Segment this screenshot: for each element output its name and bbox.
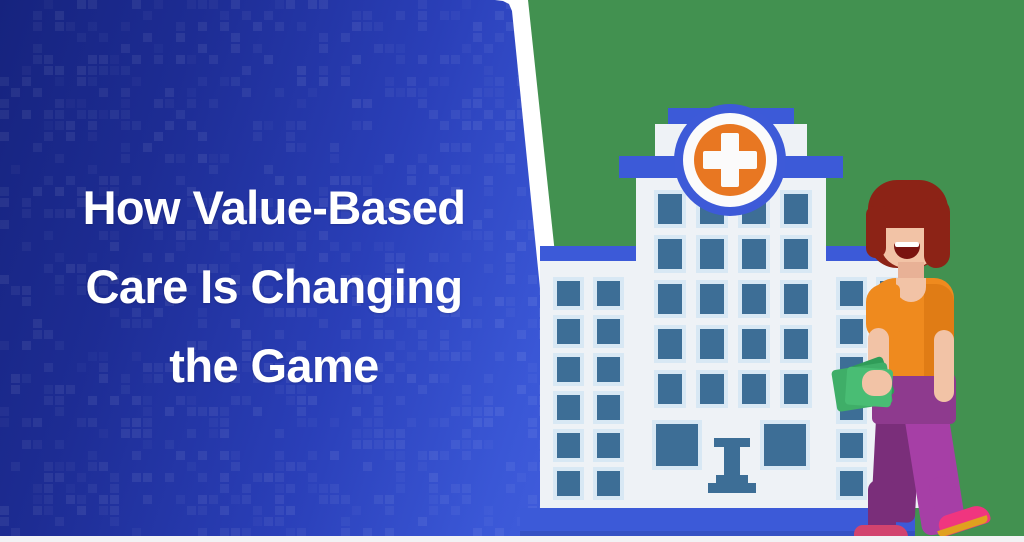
- banner-title: How Value-Based Care Is Changing the Gam…: [14, 168, 534, 405]
- building-window: [700, 239, 724, 269]
- banner-root: How Value-Based Care Is Changing the Gam…: [0, 0, 1024, 542]
- woman-walking-with-money: [838, 180, 968, 542]
- left-wing-roof-band: [540, 246, 637, 261]
- building-window: [700, 374, 724, 404]
- building-window: [557, 395, 580, 420]
- arm-right: [934, 330, 954, 402]
- building-window: [700, 284, 724, 314]
- building-window: [658, 239, 682, 269]
- cross-icon-horizontal: [703, 151, 757, 169]
- building-window: [784, 239, 808, 269]
- hair-side-right: [924, 198, 950, 268]
- building-window: [597, 281, 620, 306]
- building-window: [557, 471, 580, 496]
- title-line-3: the Game: [14, 326, 534, 405]
- building-window: [742, 239, 766, 269]
- building-window: [597, 319, 620, 344]
- left-wing-wall: [540, 261, 637, 508]
- entrance-step-lower: [708, 483, 756, 493]
- hair-side-left: [866, 206, 886, 258]
- building-window: [784, 374, 808, 404]
- building-window: [557, 319, 580, 344]
- building-window: [557, 433, 580, 458]
- building-window: [742, 329, 766, 359]
- building-window: [658, 194, 682, 224]
- medical-cross-badge: [674, 104, 786, 216]
- bottom-white-strip: [0, 536, 1024, 542]
- building-window: [597, 357, 620, 382]
- building-window: [658, 374, 682, 404]
- building-window: [597, 395, 620, 420]
- building-window: [557, 357, 580, 382]
- teeth: [895, 242, 919, 247]
- title-line-1: How Value-Based: [14, 168, 534, 247]
- title-line-2: Care Is Changing: [14, 247, 534, 326]
- building-window: [784, 329, 808, 359]
- building-window: [700, 329, 724, 359]
- building-window: [742, 284, 766, 314]
- hospital-left-wing: [540, 246, 637, 508]
- building-window: [784, 284, 808, 314]
- hand-holding-money: [862, 370, 892, 396]
- building-window: [597, 433, 620, 458]
- building-window: [784, 194, 808, 224]
- building-window: [597, 471, 620, 496]
- building-window: [658, 329, 682, 359]
- building-window: [742, 374, 766, 404]
- entrance-canopy: [714, 438, 750, 447]
- entrance-post: [724, 447, 740, 475]
- entrance-step-upper: [716, 475, 748, 483]
- building-large-window: [764, 424, 806, 466]
- building-large-window: [656, 424, 698, 466]
- building-window: [658, 284, 682, 314]
- building-window: [557, 281, 580, 306]
